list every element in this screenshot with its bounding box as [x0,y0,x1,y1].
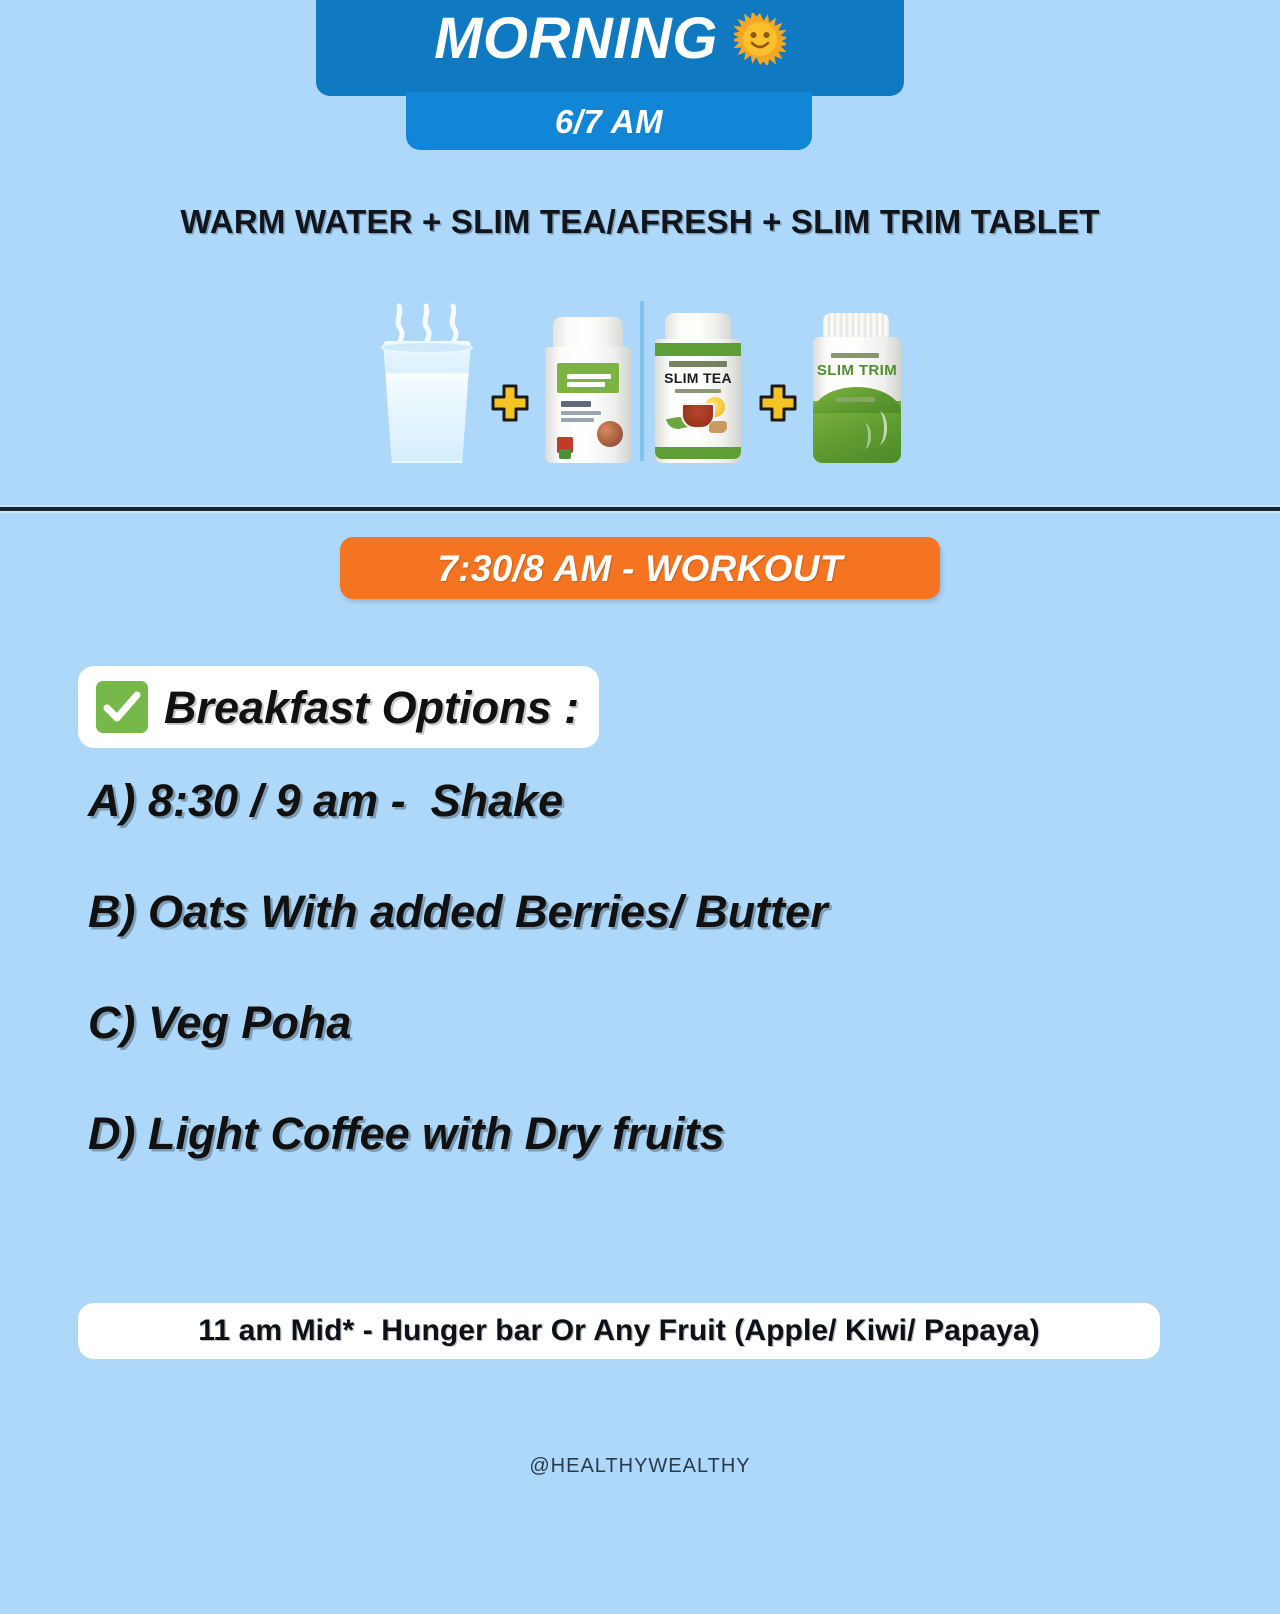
time-label: 6/7 AM [555,105,663,138]
product-slim-trim: SLIM TRIM [809,313,905,463]
product-afresh [541,317,635,463]
glass-body [383,341,471,463]
list-item: D) Light Coffee with Dry fruits [88,1111,1188,1156]
afresh-jar-icon [541,317,635,463]
page-title: MORNING [434,10,718,68]
slim-tea-label: SLIM TEA [649,371,747,385]
slim-trim-label: SLIM TRIM [809,363,905,379]
footer-handle: @HEALTHYWEALTHY [0,1455,1280,1478]
mid-morning-snack-pill: 11 am Mid* - Hunger bar Or Any Fruit (Ap… [78,1303,1160,1359]
slim-tea-jar-icon: SLIM TEA [649,313,747,463]
list-item: C) Veg Poha [88,1000,1188,1045]
workout-banner: 7:30/8 AM - WORKOUT [340,537,940,599]
time-banner: 6/7 AM [406,92,812,150]
list-item: B) Oats With added Berries/ Butter [88,889,1188,934]
mid-morning-snack-label: 11 am Mid* - Hunger bar Or Any Fruit (Ap… [198,1316,1040,1346]
plus-icon [490,383,530,423]
section-divider [0,505,1280,513]
routine-headline: WARM WATER + SLIM TEA/AFRESH + SLIM TRIM… [0,203,1280,241]
product-slim-tea: SLIM TEA [649,313,747,463]
product-divider [640,301,644,461]
product-warm-water [375,298,479,463]
list-item: A) 8:30 / 9 am - Shake [88,778,1188,823]
breakfast-options-heading: Breakfast Options : [78,666,599,748]
green-check-icon [96,681,148,733]
sun-icon [734,13,786,65]
breakfast-heading-label: Breakfast Options : [164,685,579,730]
product-row: SLIM TEA SLIM TRIM [0,283,1280,463]
plus-icon [758,383,798,423]
slim-trim-bottle-icon: SLIM TRIM [809,313,905,463]
header-zone: MORNING 6/7 AM [0,0,1280,155]
glass-rim [381,341,473,354]
workout-label: 7:30/8 AM - WORKOUT [437,550,842,587]
morning-banner: MORNING [316,0,904,96]
breakfast-options-list: A) 8:30 / 9 am - Shake B) Oats With adde… [88,778,1188,1222]
